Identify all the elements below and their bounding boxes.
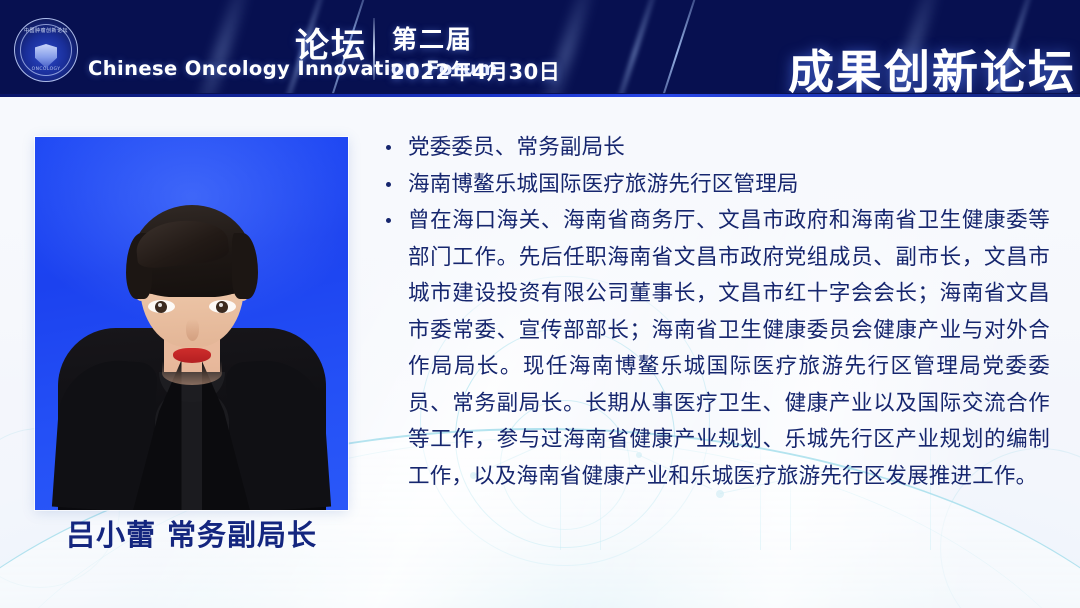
portrait-eye-right [209,300,236,313]
portrait-nose [186,319,199,341]
header-big-title: 成果创新论坛 [788,36,1076,97]
header-streak-a [187,0,255,97]
header-bar: 中国肿瘤创新论坛 ONCOLOGY Chinese Oncology Innov… [0,0,1080,97]
speaker-caption: 吕小蕾 常务副局长 [35,512,348,554]
logo-top-text: 中国肿瘤创新论坛 [24,27,68,34]
logo-bottom-text: ONCOLOGY [32,67,61,72]
header-divider [373,18,375,80]
header-underline [0,94,1080,97]
bullet-text: 曾在海口海关、海南省商务厅、文昌市政府和海南省卫生健康委等部门工作。先后任职海南… [408,208,1050,489]
slide-root: 中国肿瘤创新论坛 ONCOLOGY Chinese Oncology Innov… [0,0,1080,608]
bullet-dot-icon [386,145,391,150]
bullet-text: 海南博鳌乐城国际医疗旅游先行区管理局 [408,172,799,197]
list-item: 党委委员、常务副局长 [378,130,1050,167]
header-streak-f [648,0,707,97]
bullet-dot-icon [386,218,391,223]
bullet-text: 党委委员、常务副局长 [408,135,625,160]
portrait-eye-left [148,300,175,313]
bullet-dot-icon [386,182,391,187]
header-edition: 第二届 [392,20,473,56]
portrait-chin-shadow [162,361,222,385]
header-cn-label: 论坛 [295,18,367,67]
header-date: 2022年4月30日 [390,56,560,86]
speaker-photo [35,137,348,510]
list-item: 曾在海口海关、海南省商务厅、文昌市政府和海南省卫生健康委等部门工作。先后任职海南… [378,203,1050,495]
header-streak-e [604,0,666,97]
forum-logo-icon: 中国肿瘤创新论坛 ONCOLOGY [14,18,78,82]
bio-list: 党委委员、常务副局长 海南博鳌乐城国际医疗旅游先行区管理局 曾在海口海关、海南省… [378,130,1050,495]
list-item: 海南博鳌乐城国际医疗旅游先行区管理局 [378,167,1050,204]
